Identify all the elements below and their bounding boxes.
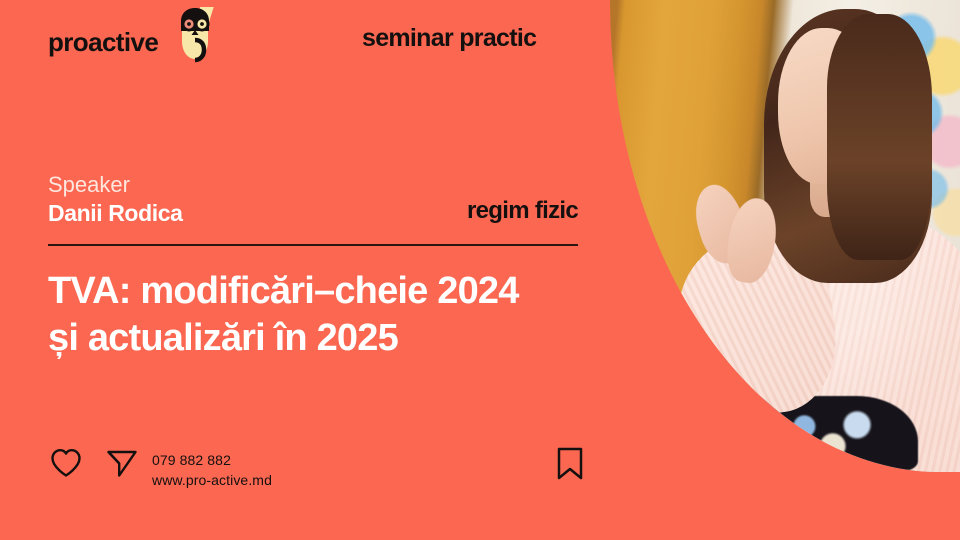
speaker-photo [610,0,960,472]
page-title-line-2: și actualizări în 2025 [48,315,608,362]
brand-name: proactive [48,29,158,55]
owl-logo-icon [168,21,222,63]
speaker-block: Speaker Danii Rodica [48,172,183,227]
send-icon[interactable] [106,448,138,478]
website-url[interactable]: www.pro-active.md [152,470,272,490]
brand-lockup[interactable]: proactive [48,22,222,62]
photo-subject-hair-front [827,14,932,259]
heart-icon[interactable] [50,448,82,478]
phone-number[interactable]: 079 882 882 [152,450,272,470]
page-title: TVA: modificări–cheie 2024 și actualizăr… [48,268,608,362]
event-type-label: seminar practic [362,26,536,51]
seminar-promo-poster: proactive seminar practic Speaker Danii … [0,0,960,540]
format-badge: regim fizic [467,199,578,223]
bookmark-icon[interactable] [554,446,586,482]
contact-info: 079 882 882 www.pro-active.md [152,450,272,491]
social-actions [50,448,138,478]
divider [48,244,578,246]
page-title-line-1: TVA: modificări–cheie 2024 [48,268,608,315]
speaker-name: Danii Rodica [48,199,183,227]
speaker-label: Speaker [48,172,183,199]
